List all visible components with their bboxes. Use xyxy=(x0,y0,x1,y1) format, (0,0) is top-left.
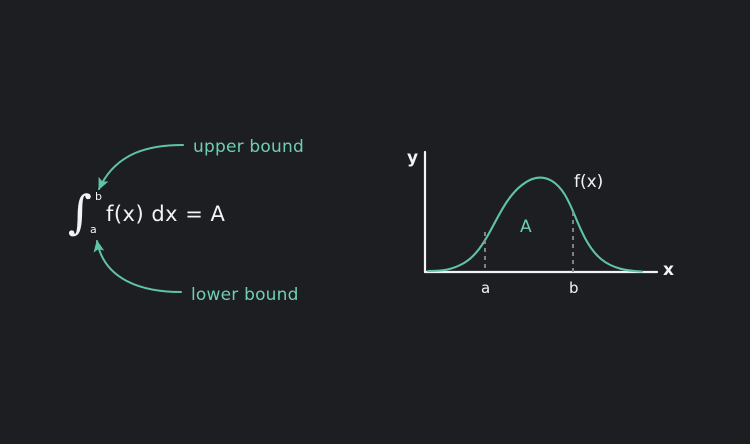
integral-limits: b a xyxy=(93,192,102,236)
integral-sign-icon: ∫ xyxy=(68,194,92,232)
graph-panel: y x a b A f(x) xyxy=(380,0,750,444)
integral-equation: ∫ b a f(x) dx = A xyxy=(68,192,225,236)
lower-bound-annotation-label: lower bound xyxy=(191,285,299,305)
integral-explainer-diagram: upper bound lower bound ∫ b a f(x) dx = … xyxy=(0,0,750,444)
integral-upper-limit: b xyxy=(95,190,102,203)
function-plot xyxy=(380,0,750,444)
upper-bound-arrow xyxy=(99,145,183,189)
area-region-label: A xyxy=(520,217,532,237)
lower-bound-arrow xyxy=(97,241,181,292)
curve-function-label: f(x) xyxy=(574,172,603,192)
y-axis-label: y xyxy=(407,148,418,168)
x-tick-label-a: a xyxy=(481,279,490,297)
upper-bound-annotation-label: upper bound xyxy=(193,137,304,157)
integral-expression-body: f(x) dx = A xyxy=(106,202,225,226)
x-tick-label-b: b xyxy=(569,279,579,297)
formula-panel: upper bound lower bound ∫ b a f(x) dx = … xyxy=(0,0,380,444)
function-curve xyxy=(428,178,642,272)
x-axis-label: x xyxy=(663,260,674,280)
